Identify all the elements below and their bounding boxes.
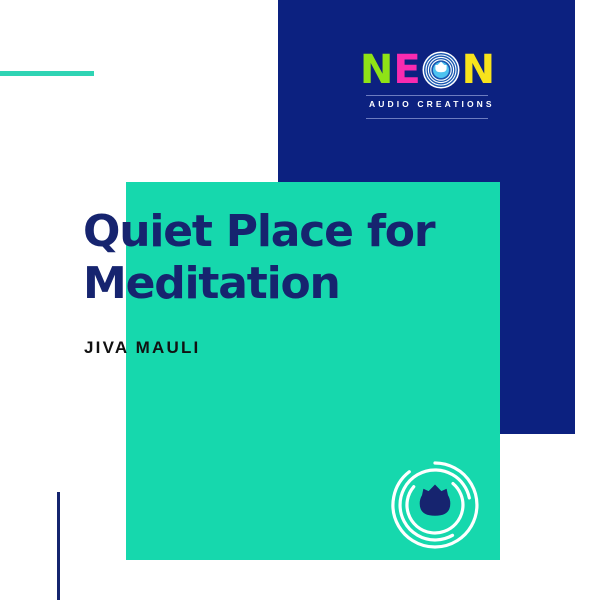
logo-letter-e: E [393,50,419,90]
vinyl-aperture-icon [422,51,460,89]
teal-accent-line-icon [0,71,94,76]
logo-letter-n-last: N [462,50,494,90]
neon-audio-creations-logo[interactable]: N E N AUDIO CREATIONS [366,50,488,119]
logo-tagline: AUDIO CREATIONS [366,96,488,113]
logo-wordmark: N E N [366,50,488,90]
album-cover-canvas: N E N AUDIO CREATIONS Quiet Place for Me… [0,0,600,600]
logo-divider-bottom [366,118,488,119]
navy-accent-line-icon [57,492,60,600]
vinyl-lotus-icon [387,457,483,553]
artist-name: JIVA MAULI [84,338,200,358]
logo-letter-n-first: N [360,50,392,90]
album-title: Quiet Place for Meditation [83,206,483,310]
